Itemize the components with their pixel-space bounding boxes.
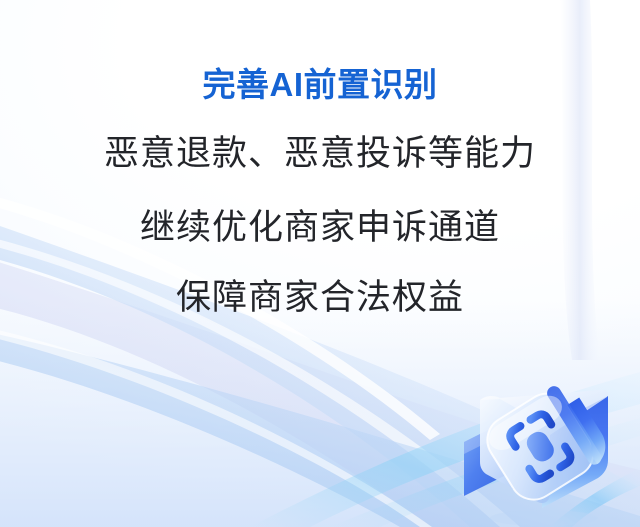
body-line-3: 保障商家合法权益	[0, 275, 640, 321]
poster-canvas: 完善AI前置识别 恶意退款、恶意投诉等能力 继续优化商家申诉通道 保障商家合法权…	[0, 0, 640, 527]
body-line-2: 继续优化商家申诉通道	[0, 205, 640, 251]
ai-recognition-graphic: AI	[440, 368, 640, 527]
body-line-1: 恶意退款、恶意投诉等能力	[0, 131, 640, 177]
face-scan-recognition-icon	[478, 377, 614, 508]
page-title: 完善AI前置识别	[0, 64, 640, 106]
